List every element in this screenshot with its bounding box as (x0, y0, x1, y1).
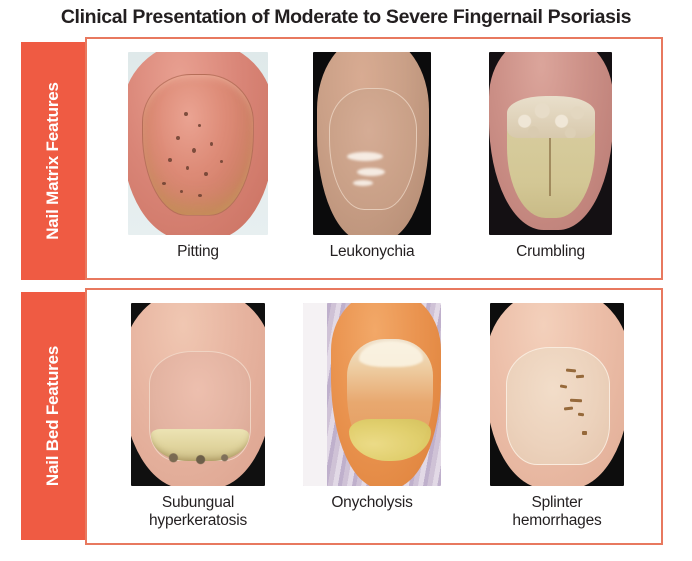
distal-debris (159, 453, 239, 465)
splinter-streak (570, 399, 582, 403)
row-label-text: Nail Matrix Features (43, 82, 63, 240)
nail-pit (186, 166, 189, 170)
figure-cell-pitting: Pitting (128, 52, 268, 261)
figure-cell-leukonychia: Leukonychia (313, 52, 431, 261)
caption-splinter-hemorrhages: Splinter hemorrhages (512, 494, 601, 531)
photo-splinter-hemorrhages (490, 303, 624, 486)
leukonychia-patch (357, 168, 385, 176)
caption-subungual-hyperkeratosis: Subungual hyperkeratosis (149, 494, 247, 531)
nail-plate-shape (329, 88, 417, 210)
nail-pit (220, 160, 223, 163)
nail-pit (198, 194, 202, 197)
figure-title: Clinical Presentation of Moderate to Sev… (0, 6, 692, 29)
nail-pit (162, 182, 166, 185)
nail-pit (210, 142, 213, 146)
splinter-streak (578, 413, 584, 417)
nail-pit (184, 112, 188, 116)
nail-ridge (549, 138, 551, 196)
caption-leukonychia: Leukonychia (330, 243, 415, 261)
caption-line: hemorrhages (512, 512, 601, 530)
splinter-streak (582, 431, 587, 435)
caption-line: Splinter (512, 494, 601, 512)
row-label-text: Nail Bed Features (43, 346, 63, 486)
photo-subungual-hyperkeratosis (131, 303, 265, 486)
leukonychia-patch (353, 180, 373, 186)
nail-pit (168, 158, 172, 162)
figure-cell-onycholysis: Onycholysis (303, 303, 441, 512)
caption-onycholysis: Onycholysis (331, 494, 412, 512)
splinter-streak (576, 375, 584, 379)
nail-pit (204, 172, 208, 176)
caption-line: hyperkeratosis (149, 512, 247, 530)
nail-pit (176, 136, 180, 140)
leukonychia-patch (347, 152, 383, 161)
figure-cell-subungual-hyperkeratosis: Subungual hyperkeratosis (131, 303, 265, 531)
caption-line: Subungual (149, 494, 247, 512)
nail-plate-shape (506, 347, 610, 465)
caption-pitting: Pitting (177, 243, 219, 261)
photo-crumbling (489, 52, 612, 235)
row-label-nail-bed-features: Nail Bed Features (21, 292, 85, 540)
photo-pitting (128, 52, 268, 235)
caption-crumbling: Crumbling (516, 243, 585, 261)
figure-cell-crumbling: Crumbling (489, 52, 612, 261)
nail-pit (192, 148, 196, 153)
figure-cell-splinter-hemorrhages: Splinter hemorrhages (490, 303, 624, 531)
row-label-nail-matrix-features: Nail Matrix Features (21, 42, 85, 280)
nail-pit (180, 190, 183, 193)
crumbling-keratin-debris (507, 96, 595, 138)
nail-pit (198, 124, 201, 127)
photo-onycholysis (303, 303, 441, 486)
photo-background-edge (303, 303, 327, 486)
photo-leukonychia (313, 52, 431, 235)
